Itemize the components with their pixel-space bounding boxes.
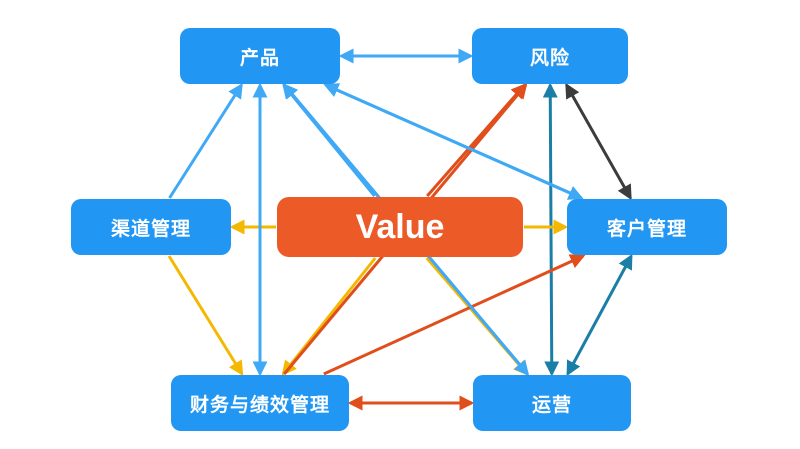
node-label: 渠道管理 xyxy=(111,214,191,241)
edge-risk-operation xyxy=(550,85,552,374)
node-risk[interactable]: 风险 xyxy=(472,28,628,84)
node-label: 风险 xyxy=(530,43,570,70)
node-label: 产品 xyxy=(240,43,280,70)
node-label: 财务与绩效管理 xyxy=(190,390,330,417)
node-customer[interactable]: 客户管理 xyxy=(567,199,727,255)
node-channel[interactable]: 渠道管理 xyxy=(71,199,231,255)
node-label: 客户管理 xyxy=(607,214,687,241)
node-operation[interactable]: 运营 xyxy=(473,375,631,431)
node-finance[interactable]: 财务与绩效管理 xyxy=(171,375,349,431)
node-label: Value xyxy=(356,208,445,247)
edge-channel-finance xyxy=(169,256,242,374)
node-value[interactable]: Value xyxy=(277,197,523,257)
node-label: 运营 xyxy=(532,390,572,417)
edge-risk-customer xyxy=(567,85,631,198)
node-product[interactable]: 产品 xyxy=(180,28,340,84)
edge-channel-product xyxy=(170,85,242,198)
edge-customer-operation xyxy=(568,256,632,374)
diagram-canvas: 产品风险渠道管理Value客户管理财务与绩效管理运营 xyxy=(0,0,800,449)
